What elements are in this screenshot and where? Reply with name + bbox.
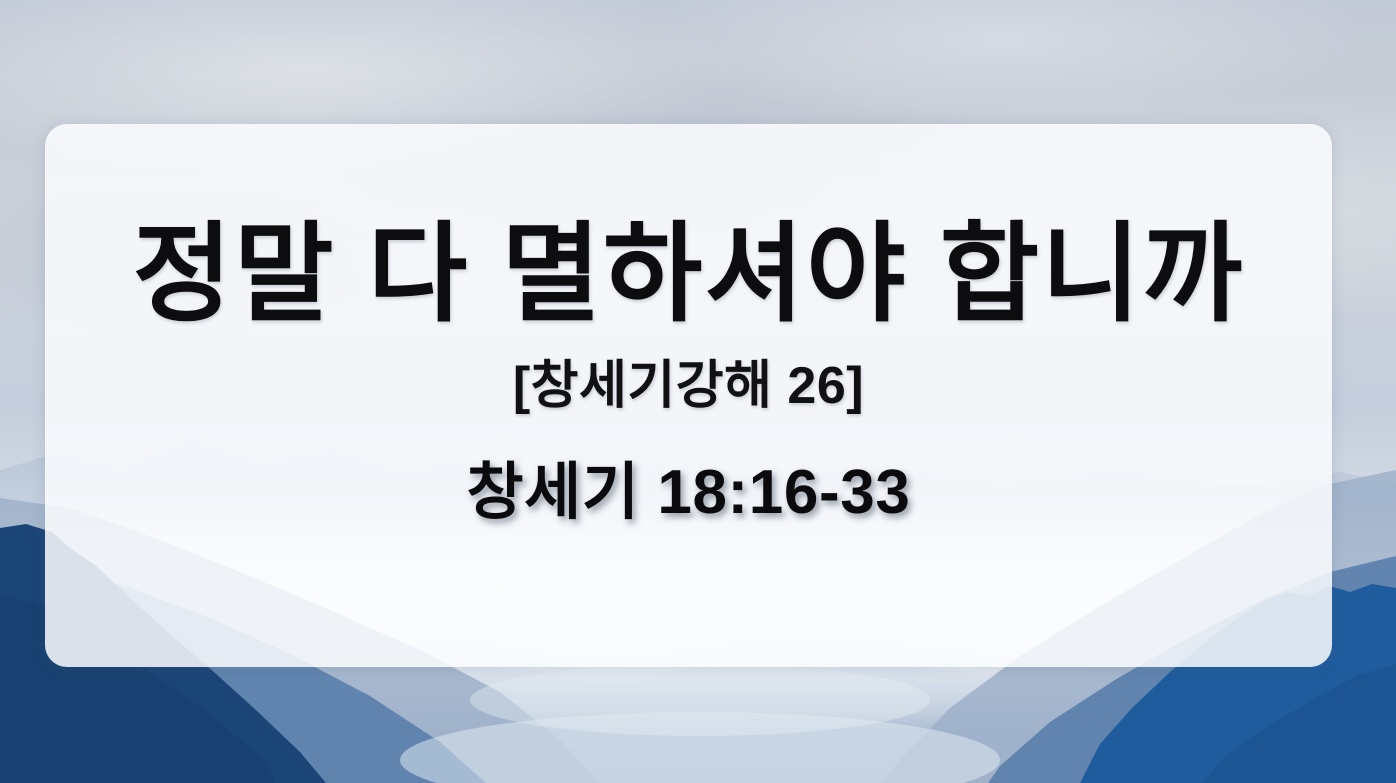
scripture-reference: 창세기 18:16-33 — [467, 412, 911, 524]
title-slide: 정말 다 멸하셔야 합니까 [창세기강해 26] 창세기 18:16-33 — [0, 0, 1396, 783]
title-card: 정말 다 멸하셔야 합니까 [창세기강해 26] 창세기 18:16-33 — [45, 124, 1332, 667]
page-title: 정말 다 멸하셔야 합니까 — [133, 220, 1245, 328]
series-label: [창세기강해 26] — [513, 328, 864, 412]
